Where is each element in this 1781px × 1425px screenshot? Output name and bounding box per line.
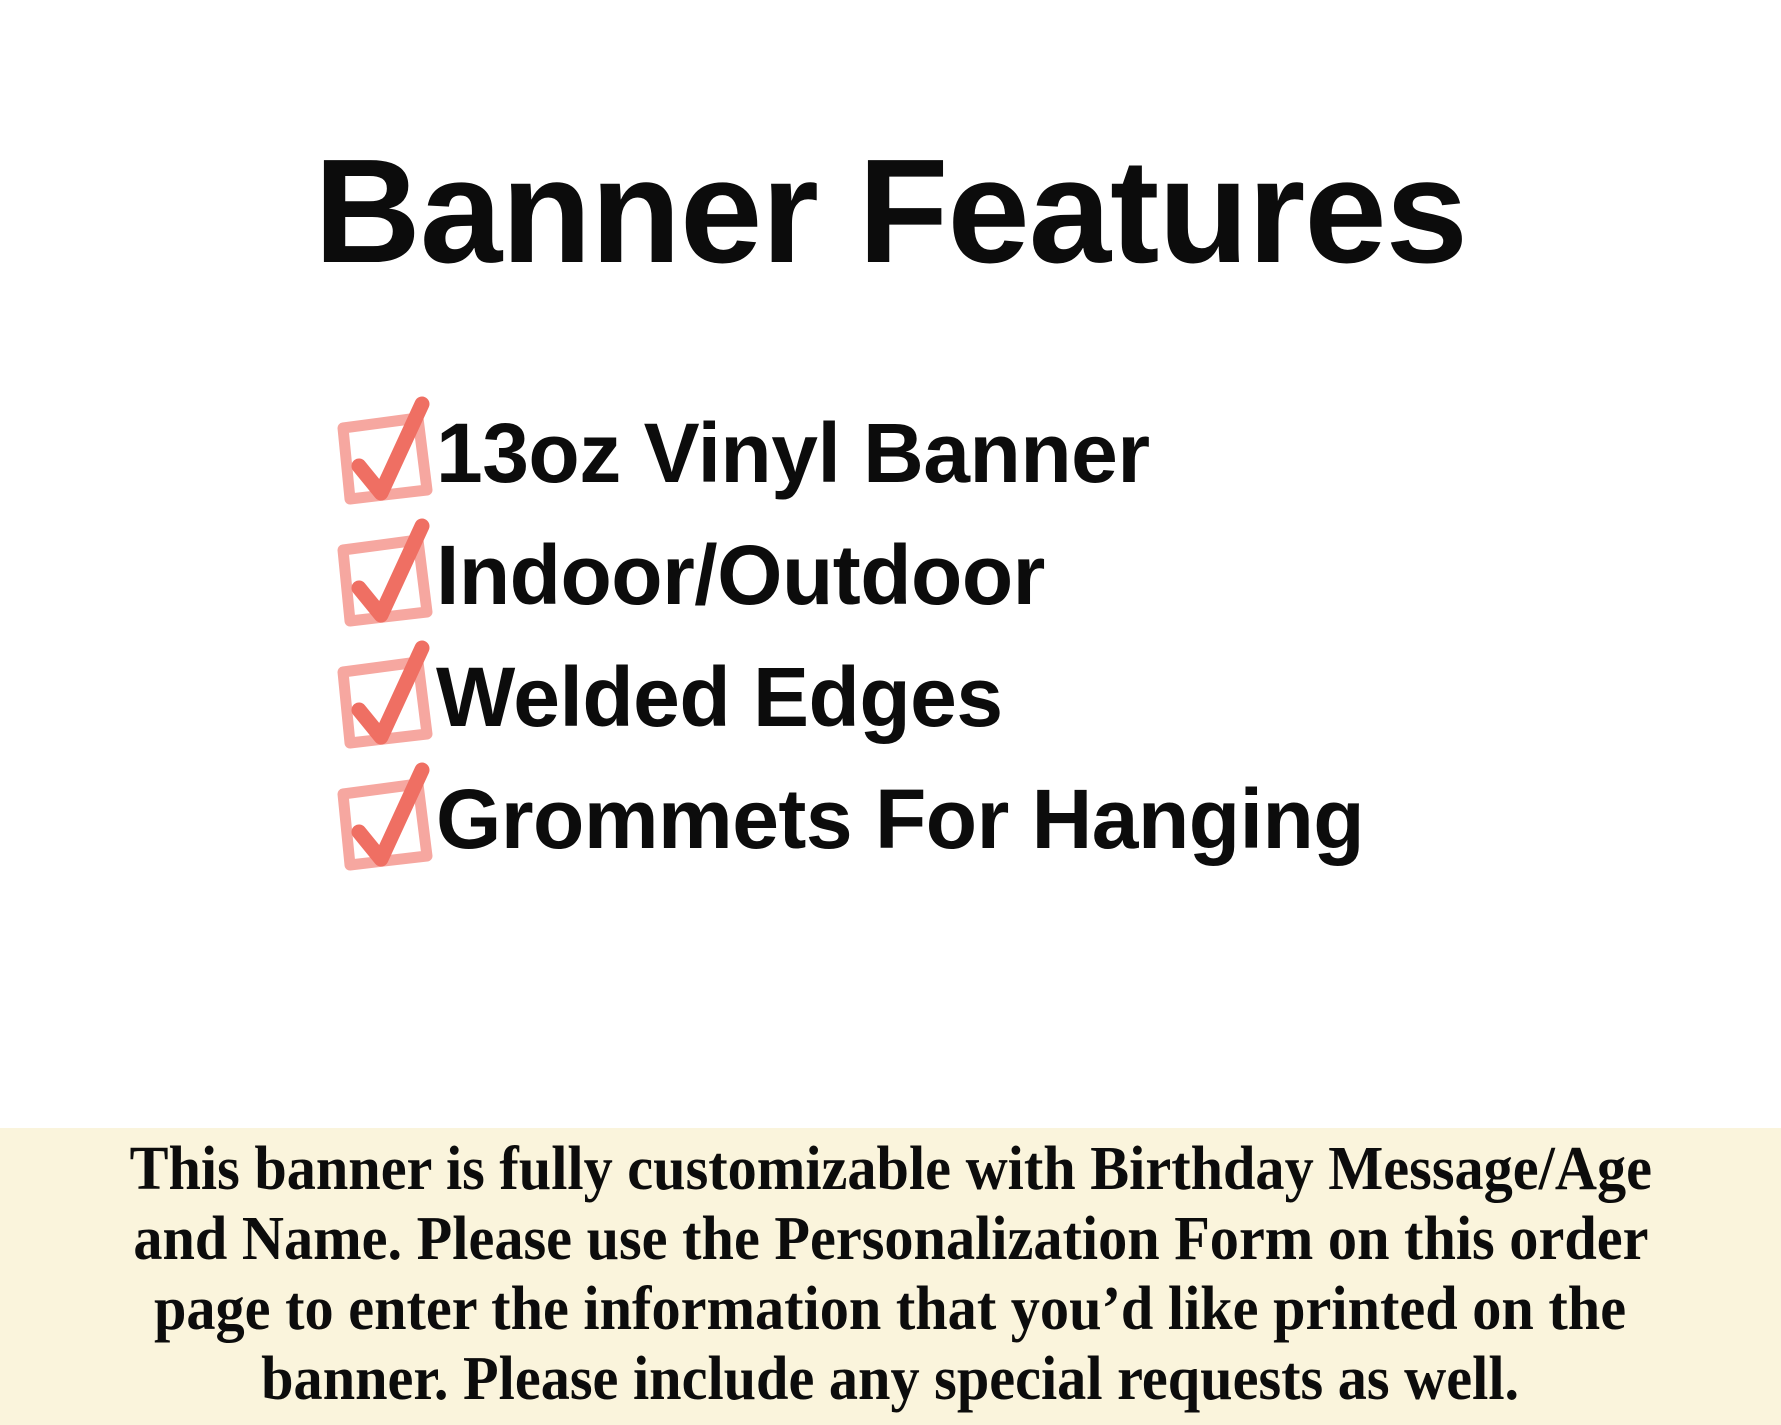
list-item-label: 13oz Vinyl Banner [436,411,1150,495]
note-line: page to enter the information that you’d… [154,1274,1626,1344]
list-item-label: Welded Edges [436,655,1003,739]
note-line: and Name. Please use the Personalization… [133,1204,1648,1274]
checkbox-checked-icon [330,394,442,512]
checkbox-checked-icon [330,516,442,634]
banner-features-graphic: Banner Features 13oz Vinyl Banner Indoor… [0,0,1781,1425]
list-item: Indoor/Outdoor [330,514,1045,636]
checkbox-checked-icon [330,638,442,756]
list-item: Welded Edges [330,636,1003,758]
list-item-label: Indoor/Outdoor [436,533,1045,617]
note-line: This banner is fully customizable with B… [129,1134,1651,1204]
note-line: banner. Please include any special reque… [262,1344,1520,1414]
list-item: 13oz Vinyl Banner [330,392,1150,514]
feature-list: 13oz Vinyl Banner Indoor/Outdoor Welded … [0,392,1781,880]
personalization-note-band: This banner is fully customizable with B… [0,1128,1781,1425]
list-item: Grommets For Hanging [330,758,1364,880]
list-item-label: Grommets For Hanging [436,777,1364,861]
page-title: Banner Features [0,134,1781,291]
checkbox-checked-icon [330,760,442,878]
